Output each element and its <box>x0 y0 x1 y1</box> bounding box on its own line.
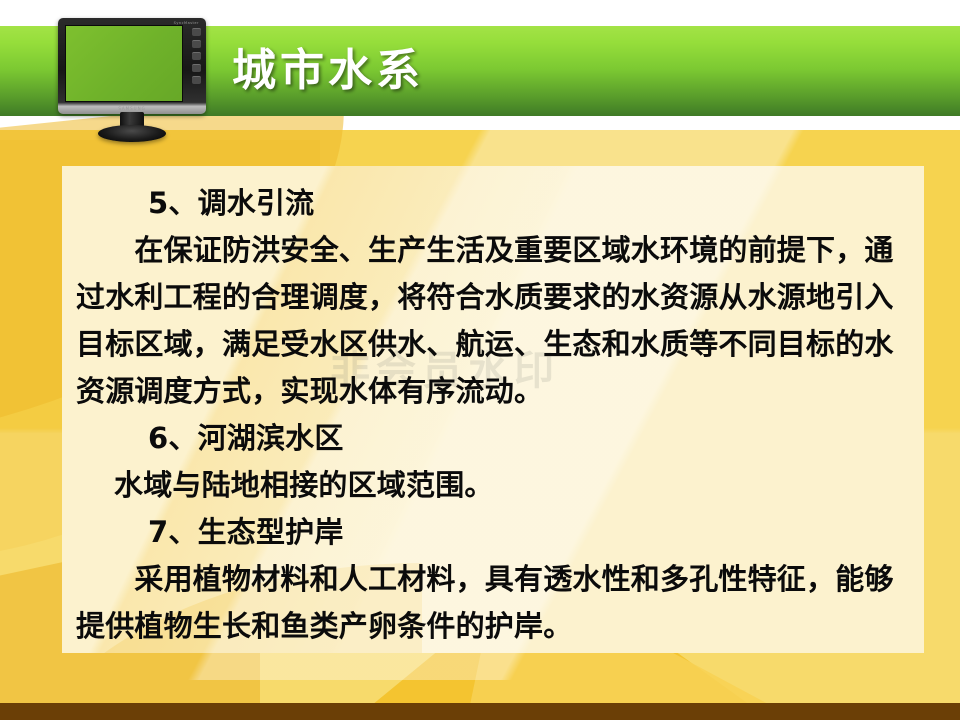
list-item-body: 在保证防洪安全、生产生活及重要区域水环境的前提下，通过水利工程的合理调度，将符合… <box>76 227 910 415</box>
footer-band <box>0 703 960 720</box>
slide-canvas: 城市水系 SyncMaster SAMSUNG 5、调水引流 在保证防洪安全、生… <box>0 0 960 720</box>
monitor-screen <box>65 25 183 102</box>
monitor-button-3 <box>192 52 201 60</box>
list-item-heading: 7、生态型护岸 <box>76 509 910 556</box>
list-item-body: 采用植物材料和人工材料，具有透水性和多孔性特征，能够提供植物生长和鱼类产卵条件的… <box>76 556 910 650</box>
monitor-side-buttons <box>192 28 201 84</box>
monitor-button-1 <box>192 28 201 36</box>
monitor-button-2 <box>192 40 201 48</box>
page-title: 城市水系 <box>232 36 552 106</box>
content-text-block: 5、调水引流 在保证防洪安全、生产生活及重要区域水环境的前提下，通过水利工程的合… <box>62 166 924 650</box>
monitor-image: SyncMaster SAMSUNG <box>58 18 206 140</box>
list-item-heading: 5、调水引流 <box>76 180 910 227</box>
list-item-body: 水域与陆地相接的区域范围。 <box>76 462 910 509</box>
content-card: 5、调水引流 在保证防洪安全、生产生活及重要区域水环境的前提下，通过水利工程的合… <box>62 166 924 653</box>
monitor-brand-label: SAMSUNG <box>58 106 206 111</box>
monitor-stand-base <box>98 125 166 142</box>
monitor-button-4 <box>192 64 201 72</box>
monitor-bezel: SyncMaster SAMSUNG <box>58 18 206 114</box>
list-item-heading: 6、河湖滨水区 <box>76 415 910 462</box>
monitor-button-5 <box>192 76 201 84</box>
monitor-model-label: SyncMaster <box>174 21 199 25</box>
